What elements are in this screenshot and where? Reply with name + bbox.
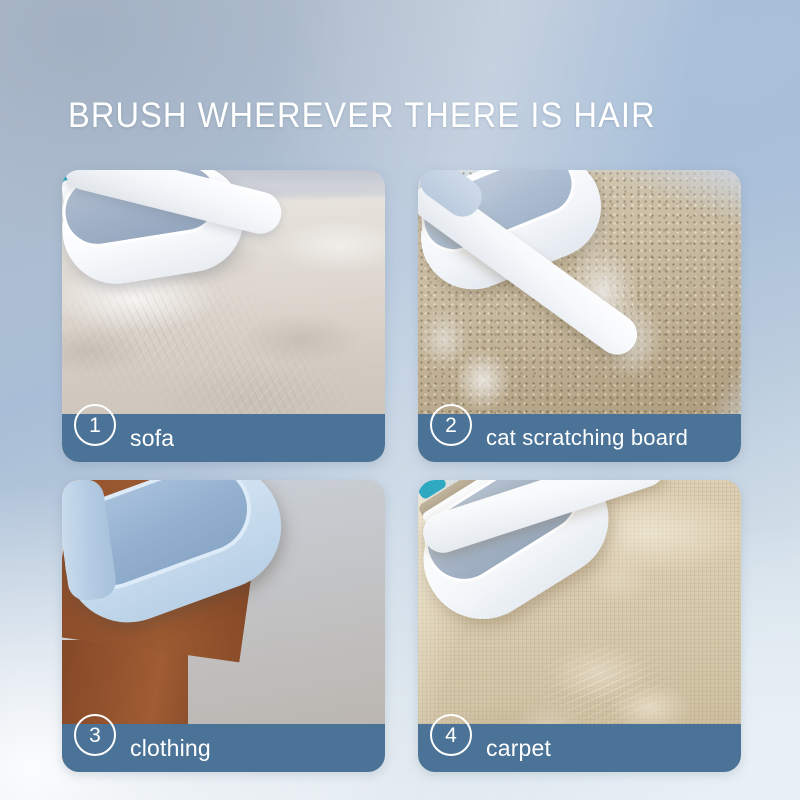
scenario-label: clothing: [130, 735, 211, 762]
grid-row-bottom: 3 clothing 4 carpet: [62, 480, 741, 772]
scenario-card-cat-scratching-board[interactable]: 2 cat scratching board: [418, 170, 741, 462]
scenario-label: sofa: [130, 425, 174, 452]
scenario-card-sofa[interactable]: 1 sofa: [62, 170, 385, 462]
scenario-label: carpet: [486, 735, 551, 762]
scenario-card-clothing[interactable]: 3 clothing: [62, 480, 385, 772]
scenario-number-badge: 1: [74, 404, 116, 446]
grid-row-top: 1 sofa 2 cat scratching: [62, 170, 741, 462]
usage-scenario-grid: 1 sofa 2 cat scratching: [62, 170, 741, 772]
scenario-number-badge: 3: [74, 714, 116, 756]
page-title: BRUSH WHEREVER THERE IS HAIR: [68, 96, 656, 136]
scenario-label: cat scratching board: [486, 425, 688, 451]
scenario-number-badge: 2: [430, 404, 472, 446]
scenario-label-bar: 1 sofa: [62, 414, 385, 462]
scenario-label-bar: 3 clothing: [62, 724, 385, 772]
scenario-card-carpet[interactable]: 4 carpet: [418, 480, 741, 772]
scenario-label-bar: 2 cat scratching board: [418, 414, 741, 462]
scenario-label-bar: 4 carpet: [418, 724, 741, 772]
scenario-number-badge: 4: [430, 714, 472, 756]
